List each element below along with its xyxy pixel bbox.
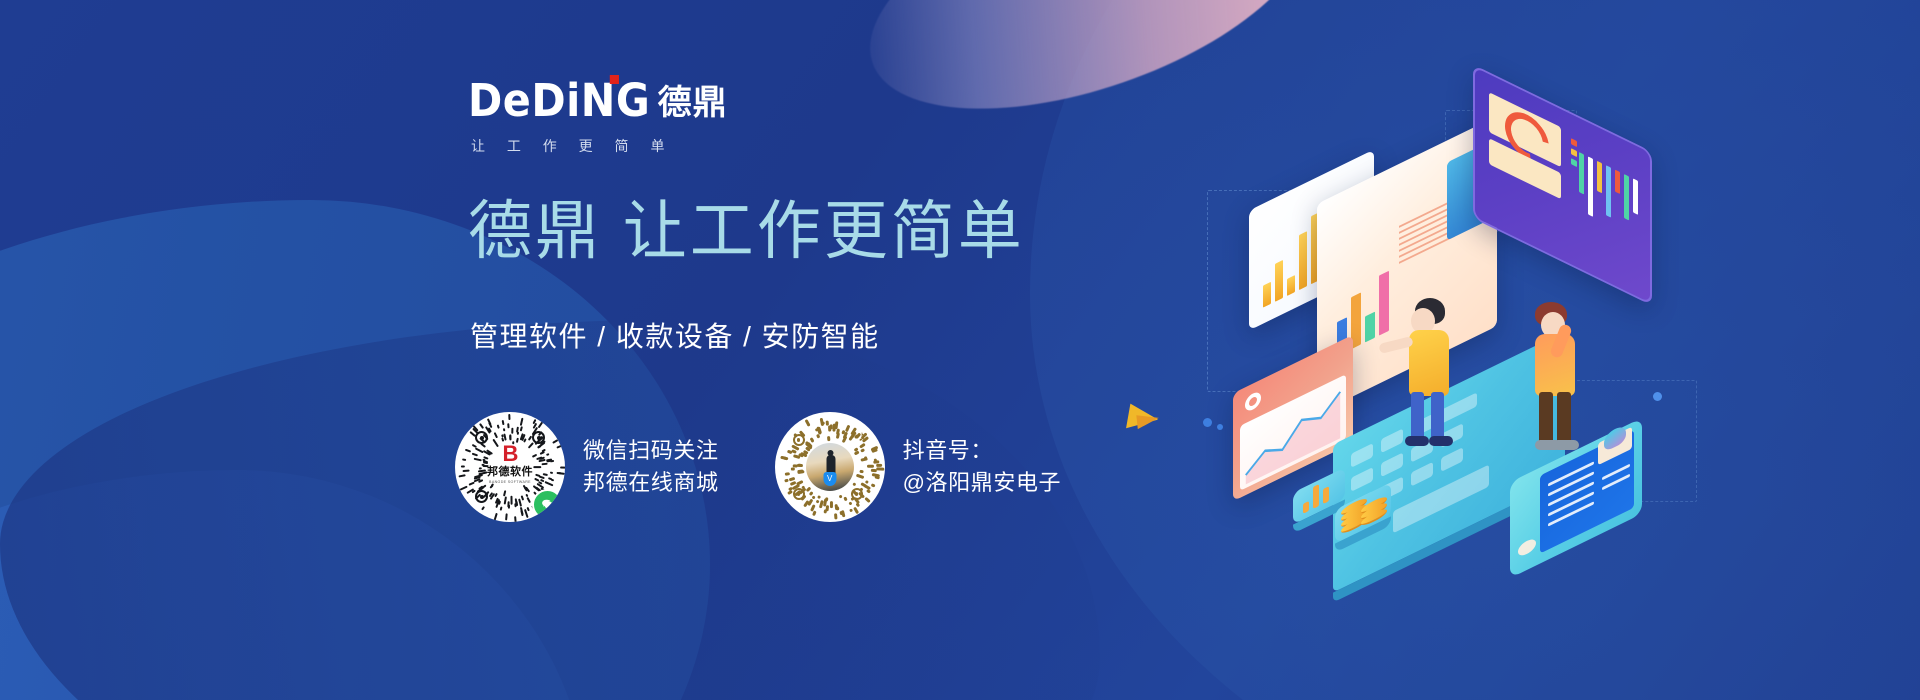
douyin-caption-line2: @洛阳鼎安电子 <box>903 467 1062 499</box>
person-orange-leg-right <box>1557 392 1571 444</box>
person-orange <box>1527 302 1587 452</box>
decor-dot-left-small <box>1217 424 1223 430</box>
promo-banner: DeDiNG 德鼎 让 工 作 更 简 单 德鼎 让工作更简单 管理软件 / 收… <box>0 0 1920 700</box>
bangde-name: 邦德软件 <box>480 466 540 479</box>
wechat-icon <box>532 489 563 520</box>
legend-swatch-green <box>1571 158 1577 167</box>
decor-dot-left <box>1203 418 1212 427</box>
qr-finder-bottom-left-icon <box>475 490 488 503</box>
person-yellow-shoe-left <box>1405 436 1429 446</box>
legend-swatch-red <box>1571 138 1577 147</box>
hero-illustration <box>1255 150 1695 570</box>
mini-bar-chart <box>1303 475 1329 514</box>
person-yellow-leg-left <box>1411 392 1424 440</box>
gear-icon <box>1245 390 1261 414</box>
logo-tagline: 让 工 作 更 简 单 <box>471 136 728 156</box>
qr-item-douyin[interactable]: ♪ V 抖音号： @洛阳鼎安电子 <box>775 412 1062 522</box>
qr-code-group: B 邦德软件 BANGDE SOFTWARE 微信扫码关注 邦德在线商城 <box>455 412 1061 522</box>
paper-plane-wing-lower <box>1136 413 1159 429</box>
logo-wordmark: DeDiNG <box>468 78 650 123</box>
legend-swatch-yellow <box>1571 148 1577 157</box>
qr-center-logo: B 邦德软件 BANGDE SOFTWARE <box>480 443 540 485</box>
douyin-qr-caption: 抖音号： @洛阳鼎安电子 <box>903 435 1062 499</box>
person-yellow-leg-right <box>1431 392 1444 440</box>
douyin-finder-bottom-left-icon <box>793 488 805 500</box>
qr-item-wechat[interactable]: B 邦德软件 BANGDE SOFTWARE 微信扫码关注 邦德在线商城 <box>455 412 719 522</box>
logo-wordmark-cn: 德鼎 <box>658 86 728 123</box>
logo-row: DeDiNG 德鼎 <box>468 78 728 123</box>
person-orange-leg-left <box>1539 392 1553 444</box>
douyin-note-icon: ♪ <box>858 429 866 444</box>
logo-accent-dot <box>609 75 618 84</box>
bangde-mark: B <box>480 443 540 465</box>
bangde-subtitle: BANGDE SOFTWARE <box>483 479 537 484</box>
douyin-avatar: V <box>806 443 854 491</box>
wechat-qr-code[interactable]: B 邦德软件 BANGDE SOFTWARE <box>455 412 565 522</box>
wechat-qr-caption: 微信扫码关注 邦德在线商城 <box>583 435 719 499</box>
brand-logo: DeDiNG 德鼎 让 工 作 更 简 单 <box>468 78 728 156</box>
person-yellow <box>1401 298 1461 448</box>
wechat-caption-line1: 微信扫码关注 <box>583 435 719 467</box>
douyin-finder-top-left-icon <box>793 434 805 446</box>
wechat-caption-line2: 邦德在线商城 <box>583 467 719 499</box>
douyin-qr-code[interactable]: ♪ V <box>775 412 885 522</box>
phone-home-button <box>1518 537 1536 559</box>
bar-chart-purple <box>1579 152 1638 243</box>
logo-wordmark-text: DeDiNG <box>468 74 650 127</box>
person-yellow-torso <box>1409 330 1449 396</box>
person-yellow-shoe-right <box>1429 436 1453 446</box>
headline: 德鼎 让工作更简单 <box>468 196 1025 266</box>
douyin-finder-bottom-right-icon <box>851 488 863 500</box>
subheadline: 管理软件 / 收款设备 / 安防智能 <box>470 320 880 354</box>
douyin-verified-badge: V <box>823 472 836 486</box>
person-orange-shoe-right <box>1553 440 1579 450</box>
douyin-caption-line1: 抖音号： <box>903 435 1062 467</box>
decor-dot-right <box>1653 392 1662 401</box>
